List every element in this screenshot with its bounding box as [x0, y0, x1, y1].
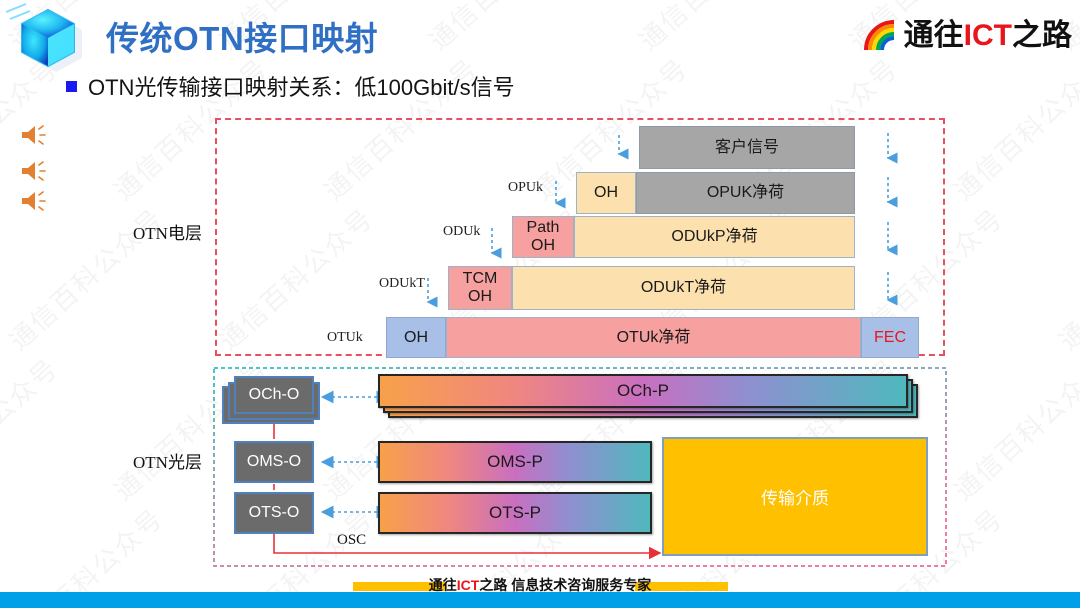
speaker-icon-2 — [20, 160, 46, 182]
node-ots-o[interactable]: OTS-O — [234, 492, 314, 534]
node-och-o[interactable]: OCh-O — [234, 376, 314, 414]
footer: 通往ICT之路 信息技术咨询服务专家 — [0, 568, 1080, 608]
brand-logo: 通往ICT之路 — [862, 10, 1072, 54]
footer-band — [0, 592, 1080, 608]
square-bullet-icon — [66, 81, 77, 92]
transmission-medium[interactable]: 传输介质 — [662, 437, 928, 556]
payload-ots-p[interactable]: OTS-P — [378, 492, 652, 534]
page-title: 传统OTN接口映射 — [106, 12, 378, 60]
node-och-o-label: OCh-O — [249, 386, 300, 404]
footer-ict: ICT — [457, 577, 480, 593]
subtitle-text: OTN光传输接口映射关系：低100Gbit/s信号 — [88, 70, 515, 102]
speaker-icon-3 — [20, 190, 46, 212]
footer-text-1: 通往 — [429, 577, 457, 593]
subtitle: OTN光传输接口映射关系：低100Gbit/s信号 — [66, 70, 515, 102]
brand-text: 通往ICT之路 — [904, 10, 1072, 54]
osc-label: OSC — [337, 532, 366, 549]
transmission-medium-label: 传输介质 — [761, 484, 829, 509]
brand-text-1: 通往 — [904, 19, 964, 52]
node-oms-o-label: OMS-O — [247, 453, 301, 471]
node-oms-o[interactable]: OMS-O — [234, 441, 314, 483]
node-ots-o-label: OTS-O — [249, 504, 300, 522]
payload-ots-p-label: OTS-P — [489, 503, 541, 523]
footer-text-2: 之路 信息技术咨询服务专家 — [479, 577, 651, 593]
brand-text-2: 之路 — [1012, 19, 1072, 52]
speaker-icon-1 — [20, 124, 46, 146]
payload-och-p-label: OCh-P — [617, 381, 669, 401]
payload-oms-p-label: OMS-P — [487, 452, 543, 472]
payload-oms-p[interactable]: OMS-P — [378, 441, 652, 483]
brand-ict: ICT — [964, 19, 1012, 52]
payload-och-p[interactable]: OCh-P — [378, 374, 908, 408]
rainbow-arc-icon — [862, 12, 900, 52]
